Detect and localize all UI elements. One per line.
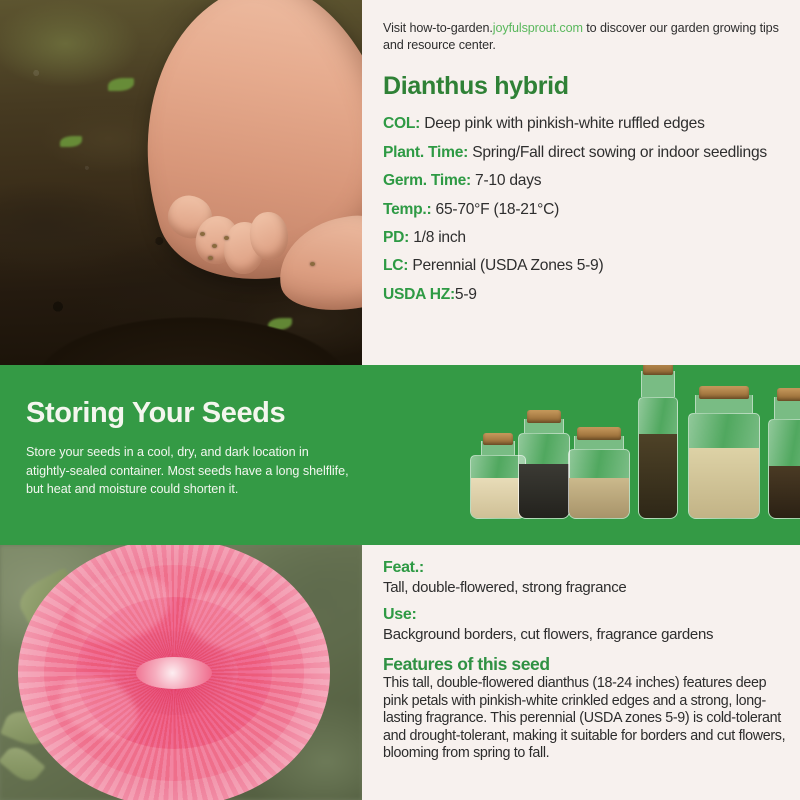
website-link[interactable]: joyfulsprout.com — [493, 21, 583, 35]
jar-cork-lid — [643, 365, 673, 375]
spec-value: 5-9 — [455, 286, 477, 303]
spec-row: USDA HZ:5-9 — [383, 285, 784, 306]
jar-seed-fill — [519, 464, 569, 518]
jar-cork-lid — [483, 433, 513, 445]
jar-pumpkin-seeds — [688, 386, 760, 519]
spec-value: 1/8 inch — [409, 229, 466, 246]
carnation-bloom — [18, 545, 330, 800]
soil-mound — [0, 235, 362, 365]
jar-glass — [518, 433, 570, 519]
spec-row: COL: Deep pink with pinkish-white ruffle… — [383, 114, 784, 135]
jar-glass — [568, 449, 630, 519]
spec-key: LC: — [383, 257, 408, 274]
top-section: Visit how-to-garden.joyfulsprout.com to … — [0, 0, 800, 365]
spec-key: PD: — [383, 229, 409, 246]
spec-value: 7-10 days — [471, 172, 541, 189]
storing-heading: Storing Your Seeds — [26, 397, 285, 430]
spec-key: COL: — [383, 115, 420, 132]
storing-body-text: Store your seeds in a cool, dry, and dar… — [26, 443, 352, 499]
jar-mixed-seeds — [768, 388, 800, 519]
flower-center — [136, 657, 212, 689]
spec-value: Perennial (USDA Zones 5-9) — [408, 257, 603, 274]
spec-row: Plant. Time: Spring/Fall direct sowing o… — [383, 143, 784, 164]
spec-value: Spring/Fall direct sowing or indoor seed… — [468, 144, 767, 161]
features-body-text: This tall, double-flowered dianthus (18-… — [383, 675, 786, 763]
spec-key: USDA HZ: — [383, 286, 455, 303]
spec-value: 65-70°F (18-21°C) — [431, 201, 559, 218]
features-block: Features of this seed This tall, double-… — [383, 654, 786, 763]
feature-value: Tall, double-flowered, strong fragrance — [383, 579, 786, 598]
bottom-section: Feat.: Tall, double-flowered, strong fra… — [0, 545, 800, 800]
spec-list: COL: Deep pink with pinkish-white ruffle… — [383, 114, 784, 305]
feature-block: Feat.: Tall, double-flowered, strong fra… — [383, 559, 786, 597]
jar-ground-seeds — [568, 427, 630, 519]
seed-jars-photo — [460, 377, 790, 537]
spec-row: Germ. Time: 7-10 days — [383, 171, 784, 192]
use-block: Use: Background borders, cut flowers, fr… — [383, 606, 786, 644]
dianthus-flower-photo — [0, 545, 362, 800]
jar-seed-fill — [639, 434, 677, 518]
jar-cork-lid — [577, 427, 621, 440]
jar-seed-fill — [769, 466, 800, 518]
jar-cork-lid — [699, 386, 749, 399]
spec-row: LC: Perennial (USDA Zones 5-9) — [383, 256, 784, 277]
jar-tall-dark-seeds — [638, 365, 678, 519]
plant-info-panel: Visit how-to-garden.joyfulsprout.com to … — [362, 0, 800, 365]
visit-website-line: Visit how-to-garden.joyfulsprout.com to … — [383, 20, 784, 53]
spec-row: Temp.: 65-70°F (18-21°C) — [383, 200, 784, 221]
jar-cork-lid — [777, 388, 800, 401]
spec-key: Temp.: — [383, 201, 431, 218]
feature-key: Feat.: — [383, 559, 786, 578]
use-value: Background borders, cut flowers, fragran… — [383, 626, 786, 645]
jar-seed-fill — [569, 478, 629, 518]
spec-key: Germ. Time: — [383, 172, 471, 189]
jar-glass — [688, 413, 760, 519]
jar-seed-fill — [689, 448, 759, 518]
jar-seed-fill — [471, 478, 525, 518]
soil-sowing-photo — [0, 0, 362, 365]
visit-prefix: Visit how-to-garden. — [383, 21, 493, 35]
seed-packet-infographic: Visit how-to-garden.joyfulsprout.com to … — [0, 0, 800, 800]
jar-glass — [768, 419, 800, 519]
spec-key: Plant. Time: — [383, 144, 468, 161]
jar-glass — [638, 397, 678, 519]
storing-seeds-section: Storing Your Seeds Store your seeds in a… — [0, 365, 800, 545]
page-title: Dianthus hybrid — [383, 72, 784, 101]
spec-value: Deep pink with pinkish-white ruffled edg… — [420, 115, 705, 132]
use-key: Use: — [383, 606, 786, 625]
description-panel: Feat.: Tall, double-flowered, strong fra… — [362, 545, 800, 800]
jar-cork-lid — [527, 410, 561, 423]
jar-black-seeds — [518, 410, 570, 519]
features-heading: Features of this seed — [383, 654, 786, 674]
spec-row: PD: 1/8 inch — [383, 228, 784, 249]
